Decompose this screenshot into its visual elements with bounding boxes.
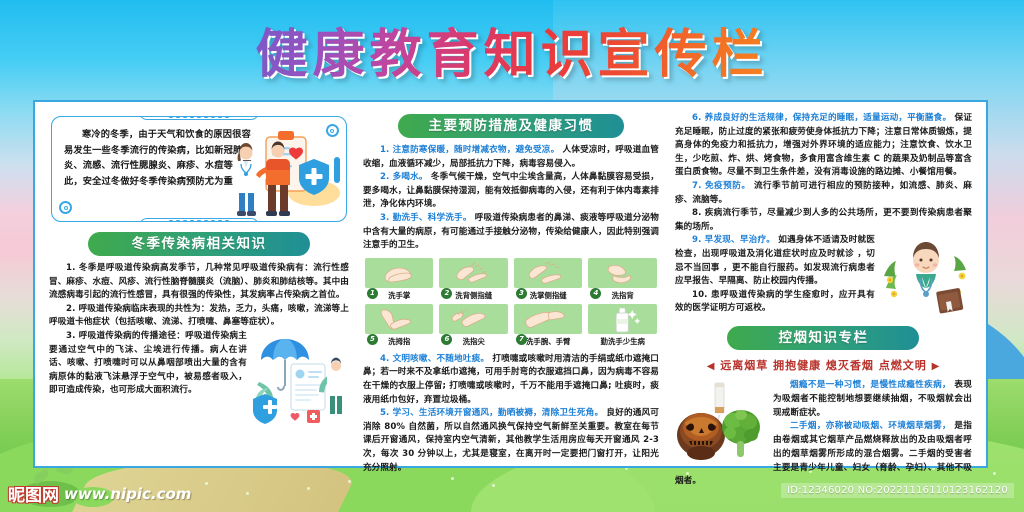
- right-body-text: 6. 养成良好的生活规律，保持充足的睡眠，适量运动，平衡膳食。 保证充足睡眠，防…: [675, 112, 972, 316]
- item-lead: 二手烟，亦称被动吸烟、环境烟草烟雾，: [790, 421, 951, 431]
- poster-title-bar: 健康教育知识宣传栏: [0, 22, 1024, 90]
- column-middle: 主要预防措施及健康习惯 1. 注意防寒保暖，随时增减衣物，避免受凉。 人体受凉时…: [355, 108, 667, 460]
- smoking-slogan: ◀ 远离烟草 拥抱健康 熄灭香烟 点燃文明 ▶: [675, 357, 972, 373]
- doctor-patient-illustration: [230, 123, 342, 219]
- right-item-9: 9. 早发现、早治疗。 如遇身体不适请及时就医检查，出现呼吸道及消化道症状时应及…: [675, 234, 972, 288]
- arrow-right-icon: ▶: [932, 361, 941, 372]
- mid-body-text-bottom: 4. 文明咳嗽、不随地吐痰。 打喷嚏或咳嗽时用清洁的手绢或纸巾遮掩口鼻；若一时来…: [363, 353, 659, 475]
- step-number: 7: [516, 334, 527, 345]
- item-number: 7.: [692, 181, 701, 191]
- item-number: 9.: [692, 235, 701, 245]
- handwash-illustration: [514, 258, 583, 288]
- item-lead: 文明咳嗽、不随地吐痰。: [393, 354, 490, 364]
- handwash-illustration: [365, 304, 434, 334]
- intro-text: 寒冷的冬季，由于天气和饮食的原因很容易发生一些冬季流行的传染病，比如新冠肺炎、流…: [64, 127, 254, 189]
- item-number: 8.: [692, 208, 701, 218]
- item-number: 10.: [692, 290, 708, 300]
- skull-cigarette-illustration: [675, 381, 767, 463]
- handwash-illustration: [439, 258, 508, 288]
- item-lead: 多喝水。: [393, 172, 428, 182]
- item-lead: 早发现、早治疗。: [705, 235, 775, 245]
- column-left: 寒冷的冬季，由于天气和饮食的原因很容易发生一些冬季流行的传染病，比如新冠肺炎、流…: [43, 108, 355, 460]
- handwash-step: 7 洗手腕、手臂: [514, 304, 583, 347]
- handwash-step: 5 洗拇指: [365, 304, 434, 347]
- right-item-6: 6. 养成良好的生活规律，保持充足的睡眠，适量运动，平衡膳食。 保证充足睡眠，防…: [675, 112, 972, 180]
- dot-decoration: [169, 116, 229, 118]
- right-item-7: 7. 免疫预防。 流行季节前可进行相应的预防接种，如流感、肺炎、麻疹、流脑等。: [675, 180, 972, 207]
- section-header-middle: 主要预防措施及健康习惯: [398, 114, 624, 138]
- handwash-illustration: [514, 304, 583, 334]
- handwash-illustration: [588, 258, 657, 288]
- umbrella-medical-illustration: [251, 330, 349, 426]
- right-item-8: 8. 疾病流行季节，尽量减少到人多的公共场所，更不要到传染病患者聚集的场所。: [675, 207, 972, 234]
- handwash-step: 勤洗手少生病: [588, 304, 657, 347]
- item-number: 2.: [66, 304, 75, 314]
- handwash-illustration: [439, 304, 508, 334]
- handwash-step: 6 洗指尖: [439, 304, 508, 347]
- handwash-illustration: [365, 258, 434, 288]
- handwash-step: 2 洗背侧指缝: [439, 258, 508, 301]
- section-header-smoking: 控烟知识专栏: [727, 326, 919, 350]
- handwash-step: 4 洗指背: [588, 258, 657, 301]
- left-item-2: 2. 呼吸道传染病临床表现的共性为：发热，乏力，头痛，咳嗽，流涕等上呼吸道卡他症…: [49, 303, 349, 330]
- mid-item-3: 3. 勤洗手、科学洗手。 呼吸道传染病患者的鼻涕、痰液等呼吸道分泌物中含有大量的…: [363, 212, 659, 253]
- mid-item-5: 5. 学习、生活环境开窗通风，勤晒被褥，清除卫生死角。 良好的通风可消除 80%…: [363, 407, 659, 475]
- left-item-3: 3. 呼吸道传染病的传播途径：呼吸道传染病主要通过空气中的飞沫、尘埃进行传播。病…: [49, 330, 349, 398]
- step-number: 3: [516, 288, 527, 299]
- arrow-left-icon: ◀: [707, 361, 716, 372]
- smoking-body-text: 烟瘾不是一种习惯，是慢性成瘾性疾病， 表现为吸烟者不能控制地想要继续抽烟，不吸烟…: [675, 379, 972, 489]
- item-text: 呼吸道传染病临床表现的共性为：发热，乏力，头痛，咳嗽，流涕等上呼吸道卡他症状（包…: [49, 304, 349, 328]
- item-number: 3.: [66, 331, 75, 341]
- item-number: 3.: [380, 213, 389, 223]
- item-number: 5.: [380, 408, 389, 418]
- handwashing-steps-grid: 1 洗手掌 2 洗背侧指缝: [365, 258, 657, 347]
- page-title: 健康教育知识宣传栏: [255, 22, 768, 88]
- item-text: 冬季是呼吸道传染病高发季节，几种常见呼吸道传染病有：流行性感冒、麻疹、水痘、风疹…: [49, 263, 349, 300]
- item-text: 疾病流行季节，尽量减少到人多的公共场所，更不要到传染病患者聚集的场所。: [675, 208, 972, 232]
- item-number: 1.: [66, 263, 75, 273]
- nurse-illustration: [880, 236, 972, 320]
- item-lead: 养成良好的生活规律，保持充足的睡眠，适量运动，平衡膳食。: [705, 113, 952, 123]
- step-number: 5: [367, 334, 378, 345]
- item-number: 6.: [692, 113, 701, 123]
- mid-item-4: 4. 文明咳嗽、不随地吐痰。 打喷嚏或咳嗽时用清洁的手绢或纸巾遮掩口鼻；若一时来…: [363, 353, 659, 407]
- section-header-left: 冬季传染病相关知识: [88, 232, 310, 256]
- item-lead: 学习、生活环境开窗通风，勤晒被褥，清除卫生死角。: [393, 408, 604, 418]
- dot-decoration: [169, 220, 229, 222]
- content-board: 寒冷的冬季，由于天气和饮食的原因很容易发生一些冬季流行的传染病，比如新冠肺炎、流…: [33, 100, 988, 468]
- step-number: 1: [367, 288, 378, 299]
- mid-item-2: 2. 多喝水。 冬季气候干燥，空气中尘埃含量高，人体鼻黏膜容易受损，要多喝水，让…: [363, 171, 659, 212]
- handwash-step: 3 洗掌侧指缝: [514, 258, 583, 301]
- item-lead: 免疫预防。: [705, 181, 751, 191]
- left-item-1: 1. 冬季是呼吸道传染病高发季节，几种常见呼吸道传染病有：流行性感冒、麻疹、水痘…: [49, 262, 349, 303]
- site-watermark: 昵图网 www.nipic.com: [8, 481, 191, 506]
- mid-item-1: 1. 注意防寒保暖，随时增减衣物，避免受凉。 人体受凉时，呼吸道血管收缩，血液循…: [363, 144, 659, 171]
- item-lead: 勤洗手、科学洗手。: [393, 213, 472, 223]
- item-number: 2.: [380, 172, 389, 182]
- watermark-url: www.nipic.com: [64, 485, 191, 503]
- watermark-logo: 昵图网: [8, 481, 59, 506]
- left-body-text: 1. 冬季是呼吸道传染病高发季节，几种常见呼吸道传染病有：流行性感冒、麻疹、水痘…: [49, 262, 349, 398]
- item-lead: 烟瘾不是一种习惯，是慢性成瘾性疾病，: [790, 380, 951, 390]
- item-number: 4.: [380, 354, 389, 364]
- item-text: 呼吸道传染病的传播途径：呼吸道传染病主要通过空气中的飞沫、尘埃进行传播。病人在讲…: [49, 331, 247, 395]
- image-id-badge: ID:12346020 NO:20221116110123162120: [781, 483, 1014, 498]
- ring-decoration: [59, 201, 72, 214]
- soap-bottle-illustration: [588, 304, 657, 334]
- column-right: 6. 养成良好的生活规律，保持充足的睡眠，适量运动，平衡膳食。 保证充足睡眠，防…: [667, 108, 978, 460]
- item-number: 1.: [380, 145, 389, 155]
- step-label: 勤洗手少生病: [588, 336, 657, 347]
- slogan-text: 远离烟草 拥抱健康 熄灭香烟 点燃文明: [720, 359, 927, 372]
- item-lead: 注意防寒保暖，随时增减衣物，避免受凉。: [393, 145, 560, 155]
- intro-box: 寒冷的冬季，由于天气和饮食的原因很容易发生一些冬季流行的传染病，比如新冠肺炎、流…: [51, 116, 347, 222]
- mid-body-text-top: 1. 注意防寒保暖，随时增减衣物，避免受凉。 人体受凉时，呼吸道血管收缩，血液循…: [363, 144, 659, 253]
- handwash-step: 1 洗手掌: [365, 258, 434, 301]
